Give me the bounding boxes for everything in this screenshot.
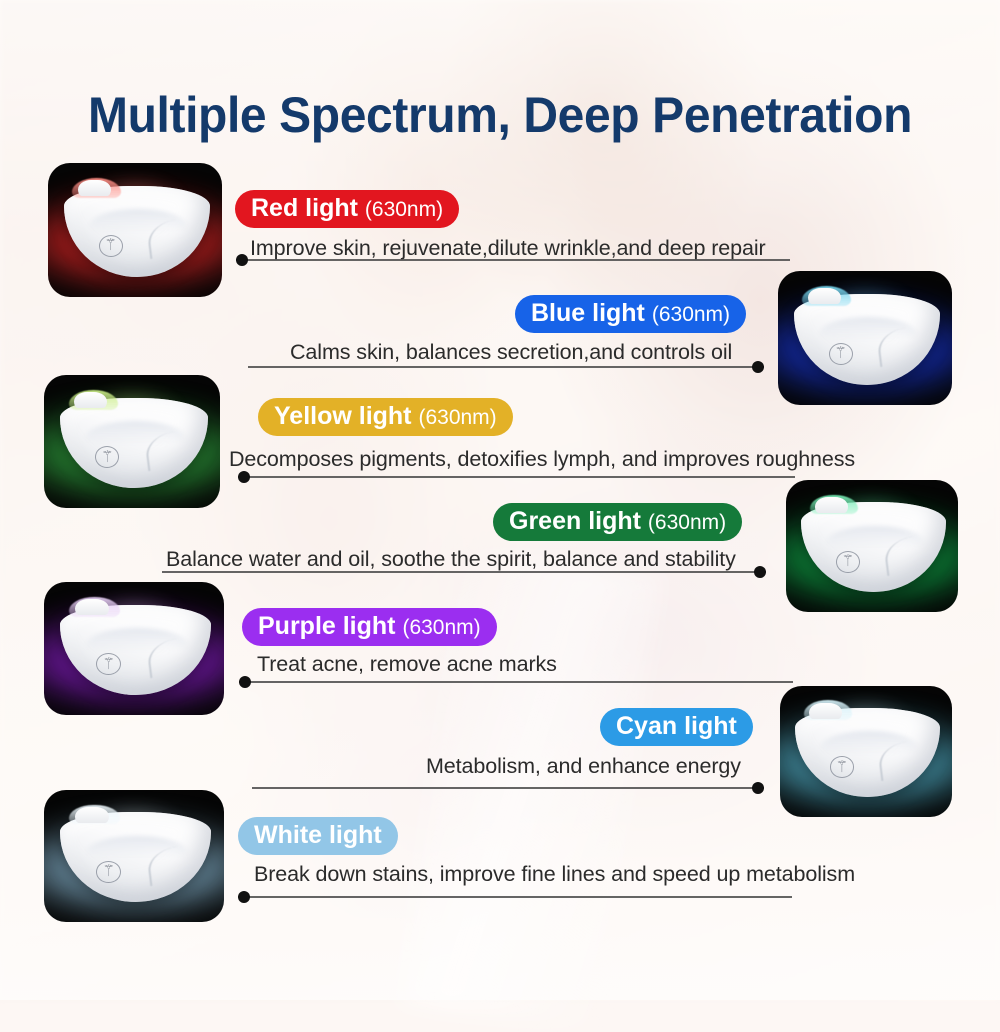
connector-dot	[238, 471, 250, 483]
connector-rule	[162, 571, 766, 573]
mask-top-tab	[815, 497, 848, 513]
mask-top-tab	[74, 392, 107, 408]
connector-dot	[752, 782, 764, 794]
power-logo-icon: ⚚	[96, 653, 121, 675]
thumb-yellow[interactable]: ⚚	[44, 375, 220, 508]
connector-line-cyan	[252, 782, 764, 794]
connector-line-yellow	[238, 471, 795, 483]
connector-dot	[236, 254, 248, 266]
mask-top-tab	[75, 599, 109, 615]
light-badge-wavelength: (630nm)	[648, 511, 726, 534]
light-description-cyan: Metabolism, and enhance energy	[426, 754, 741, 779]
connector-rule	[239, 681, 793, 683]
connector-line-purple	[239, 676, 793, 688]
thumb-blue[interactable]: ⚚	[778, 271, 952, 405]
mask-top-tab	[809, 703, 842, 719]
power-logo-icon: ⚚	[99, 235, 123, 257]
light-badge-name: White light	[254, 821, 382, 849]
light-description-white: Break down stains, improve fine lines an…	[254, 862, 855, 887]
light-badge-name: Purple light	[258, 612, 396, 640]
thumb-purple[interactable]: ⚚	[44, 582, 224, 715]
connector-line-green	[162, 566, 766, 578]
light-badge-red[interactable]: Red light (630nm)	[235, 190, 459, 228]
light-badge-name: Blue light	[531, 299, 645, 327]
light-badge-wavelength: (630nm)	[365, 198, 443, 221]
connector-rule	[236, 259, 790, 261]
connector-dot	[754, 566, 766, 578]
connector-dot	[238, 891, 250, 903]
light-description-purple: Treat acne, remove acne marks	[257, 652, 557, 677]
power-logo-icon: ⚚	[836, 551, 860, 573]
light-badge-purple[interactable]: Purple light (630nm)	[242, 608, 497, 646]
light-badge-name: Green light	[509, 507, 641, 535]
connector-line-blue	[248, 361, 764, 373]
light-badge-name: Red light	[251, 194, 358, 222]
thumb-red[interactable]: ⚚	[48, 163, 222, 297]
connector-line-white	[238, 891, 792, 903]
thumb-cyan[interactable]: ⚚	[780, 686, 952, 817]
light-badge-wavelength: (630nm)	[418, 406, 496, 429]
light-badge-name: Cyan light	[616, 712, 737, 740]
connector-rule	[238, 896, 792, 898]
connector-dot	[239, 676, 251, 688]
light-description-yellow: Decomposes pigments, detoxifies lymph, a…	[229, 447, 855, 472]
page-title: Multiple Spectrum, Deep Penetration	[20, 86, 980, 144]
light-badge-blue[interactable]: Blue light (630nm)	[515, 295, 746, 333]
connector-dot	[752, 361, 764, 373]
power-logo-icon: ⚚	[95, 446, 119, 468]
power-logo-icon: ⚚	[96, 861, 121, 883]
connector-rule	[238, 476, 795, 478]
connector-rule	[252, 787, 764, 789]
thumb-green[interactable]: ⚚	[786, 480, 958, 612]
light-badge-green[interactable]: Green light (630nm)	[493, 503, 742, 541]
connector-line-red	[236, 254, 790, 266]
mask-top-tab	[808, 288, 841, 304]
power-logo-icon: ⚚	[830, 756, 854, 778]
light-badge-cyan[interactable]: Cyan light	[600, 708, 753, 746]
mask-top-tab	[78, 180, 111, 196]
light-badge-white[interactable]: White light	[238, 817, 398, 855]
power-logo-icon: ⚚	[829, 343, 853, 365]
light-badge-wavelength: (630nm)	[402, 616, 480, 639]
light-badge-wavelength: (630nm)	[652, 303, 730, 326]
light-badge-yellow[interactable]: Yellow light (630nm)	[258, 398, 513, 436]
mask-top-tab	[75, 807, 109, 823]
connector-rule	[248, 366, 764, 368]
thumb-white[interactable]: ⚚	[44, 790, 224, 922]
light-badge-name: Yellow light	[274, 402, 412, 430]
